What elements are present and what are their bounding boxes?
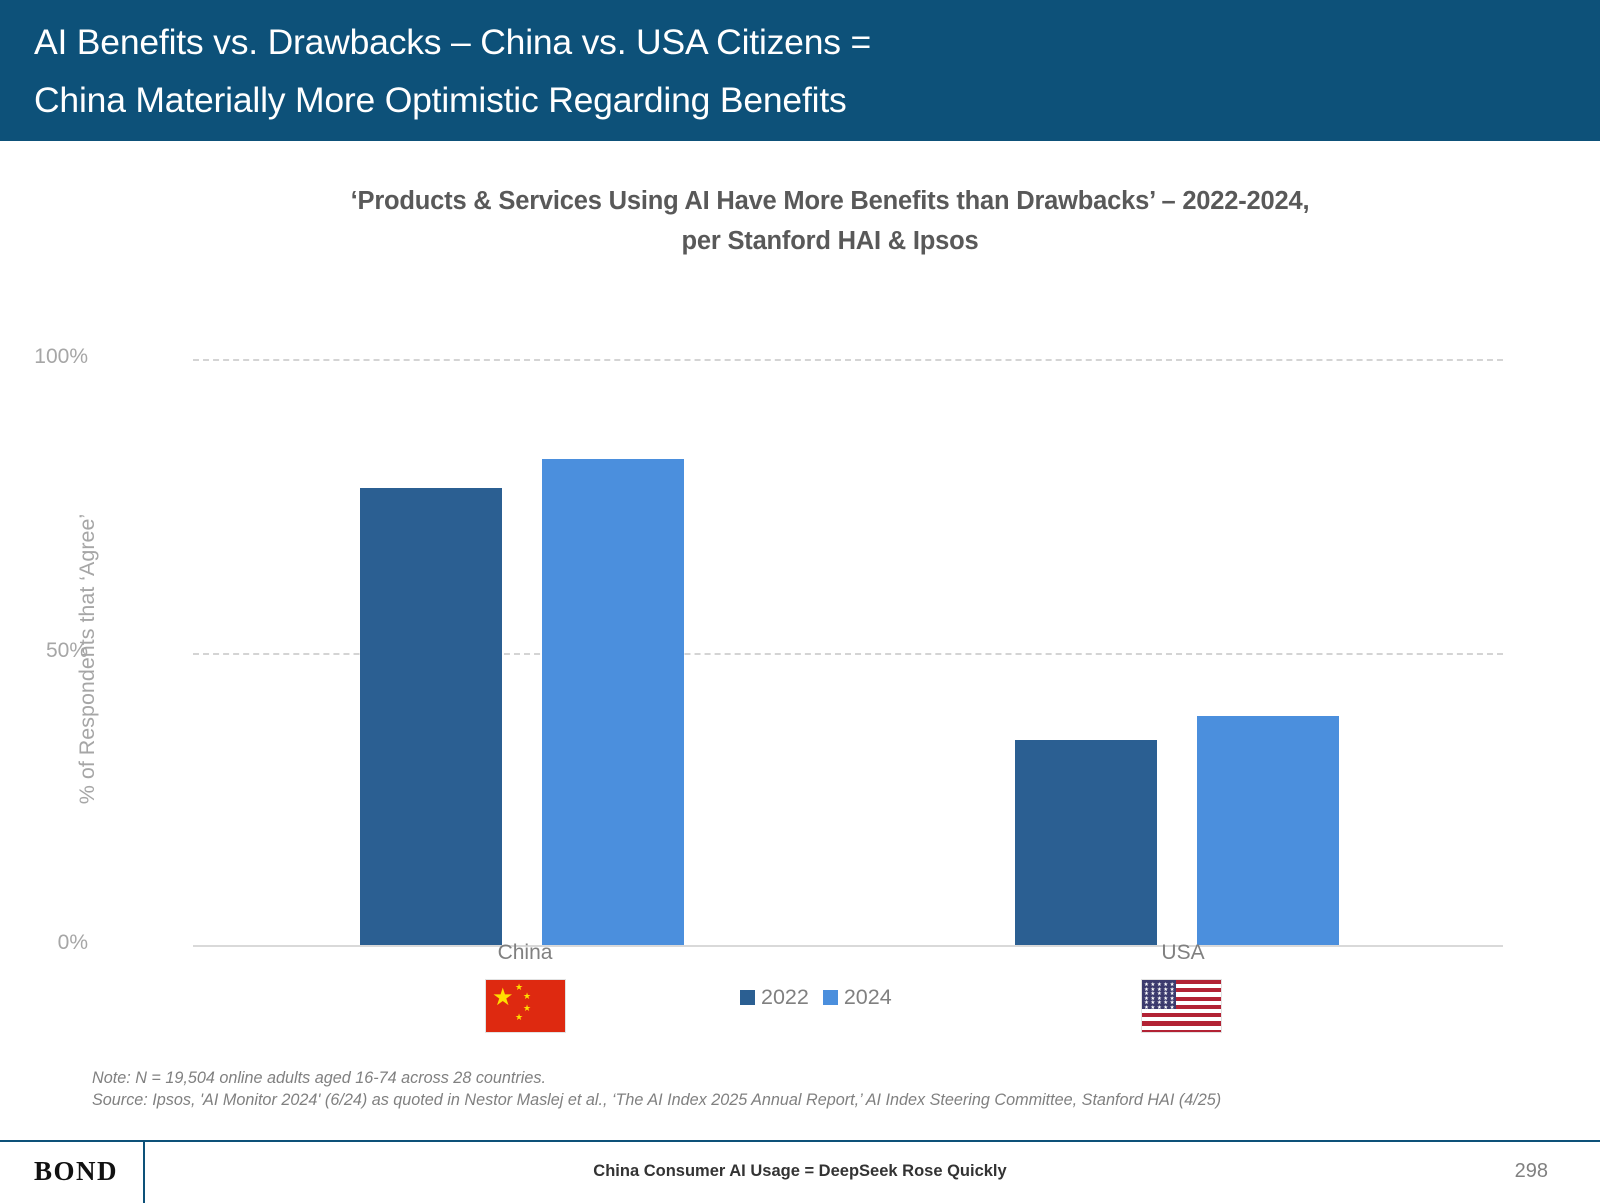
chart-plot-area: 100% 50% 0% % of Respondents that ‘Agree… bbox=[193, 359, 1503, 945]
page-title: AI Benefits vs. Drawbacks – China vs. US… bbox=[34, 14, 1600, 130]
bar-usa-2022 bbox=[1015, 740, 1157, 945]
china-flag-star-small-2: ★ bbox=[523, 992, 531, 1001]
y-tick-0: 0% bbox=[0, 931, 88, 955]
legend-item-2022[interactable]: 2022 bbox=[740, 985, 809, 1010]
footer-section-title: China Consumer AI Usage = DeepSeek Rose … bbox=[0, 1162, 1600, 1181]
china-flag-star-large: ★ bbox=[492, 986, 514, 1010]
slide-footer: BOND China Consumer AI Usage = DeepSeek … bbox=[0, 1140, 1600, 1201]
page-number: 298 bbox=[1515, 1160, 1548, 1183]
china-flag-star-small-1: ★ bbox=[515, 983, 523, 992]
legend-item-2024[interactable]: 2024 bbox=[823, 985, 892, 1010]
y-tick-100: 100% bbox=[0, 345, 88, 369]
legend-swatch-2024 bbox=[823, 990, 838, 1005]
bar-china-2022 bbox=[360, 488, 502, 945]
bar-china-2024 bbox=[542, 459, 684, 945]
axis-baseline bbox=[193, 945, 1503, 947]
footnote-source: Source: Ipsos, 'AI Monitor 2024' (6/24) … bbox=[92, 1090, 1532, 1112]
chart-legend: 2022 2024 bbox=[740, 985, 892, 1010]
china-flag-star-small-4: ★ bbox=[515, 1013, 523, 1022]
usa-flag-canton: ★★★★★★ ★★★★★ ★★★★★★ ★★★★★ ★★★★★★ ★★★★★ ★… bbox=[1142, 980, 1176, 1009]
china-flag-icon: ★ ★ ★ ★ ★ bbox=[485, 979, 566, 1033]
legend-label-2024: 2024 bbox=[844, 985, 892, 1010]
footnote-note: Note: N = 19,504 online adults aged 16-7… bbox=[92, 1068, 1532, 1090]
legend-label-2022: 2022 bbox=[761, 985, 809, 1010]
gridline-100 bbox=[193, 359, 1503, 361]
footnotes: Note: N = 19,504 online adults aged 16-7… bbox=[92, 1068, 1532, 1111]
bar-usa-2024 bbox=[1197, 716, 1339, 945]
category-label-china: China bbox=[415, 941, 635, 965]
china-flag-star-small-3: ★ bbox=[523, 1004, 531, 1013]
legend-swatch-2022 bbox=[740, 990, 755, 1005]
chart-title: ‘Products & Services Using AI Have More … bbox=[130, 182, 1530, 261]
slide-header: AI Benefits vs. Drawbacks – China vs. US… bbox=[0, 0, 1600, 141]
category-label-usa: USA bbox=[1073, 941, 1293, 965]
usa-flag-icon: ★★★★★★ ★★★★★ ★★★★★★ ★★★★★ ★★★★★★ ★★★★★ ★… bbox=[1141, 979, 1222, 1033]
y-axis-label: % of Respondents that ‘Agree’ bbox=[75, 514, 100, 804]
